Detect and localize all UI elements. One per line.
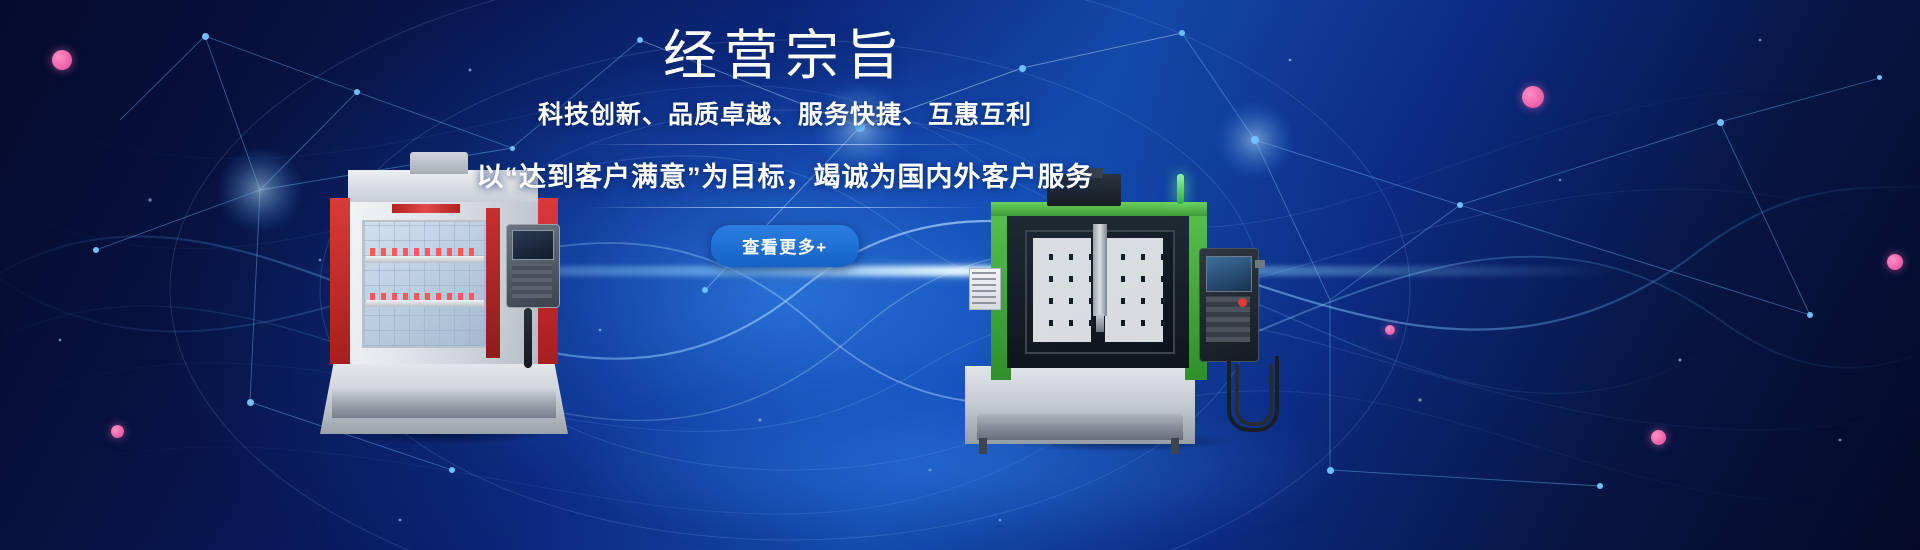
- network-node-dot: [1877, 75, 1882, 80]
- network-node-dot: [1327, 467, 1334, 474]
- divider-top: [585, 144, 985, 145]
- pink-circle: [1887, 254, 1903, 270]
- network-node-dot: [1597, 483, 1603, 489]
- pink-circle: [1651, 430, 1666, 445]
- pink-circle: [1385, 325, 1395, 335]
- banner-tagline: 以“达到客户满意”为目标，竭诚为国内外客户服务: [0, 155, 1570, 194]
- network-node-dot: [702, 287, 708, 293]
- promo-banner: 经营宗旨 科技创新、品质卓越、服务快捷、互惠互利 以“达到客户满意”为目标，竭诚…: [0, 0, 1920, 550]
- pink-circle: [111, 425, 124, 438]
- view-more-button[interactable]: 查看更多+: [711, 225, 858, 267]
- network-node-dot: [247, 399, 254, 406]
- network-node-dot: [1717, 119, 1724, 126]
- page-title: 经营宗旨: [0, 0, 1570, 85]
- divider-bottom: [585, 207, 985, 208]
- banner-subtitle: 科技创新、品质卓越、服务快捷、互惠互利: [0, 95, 1570, 131]
- network-node-dot: [1807, 312, 1813, 318]
- network-node-dot: [449, 467, 455, 473]
- banner-text-block: 经营宗旨 科技创新、品质卓越、服务快捷、互惠互利 以“达到客户满意”为目标，竭诚…: [0, 0, 1570, 267]
